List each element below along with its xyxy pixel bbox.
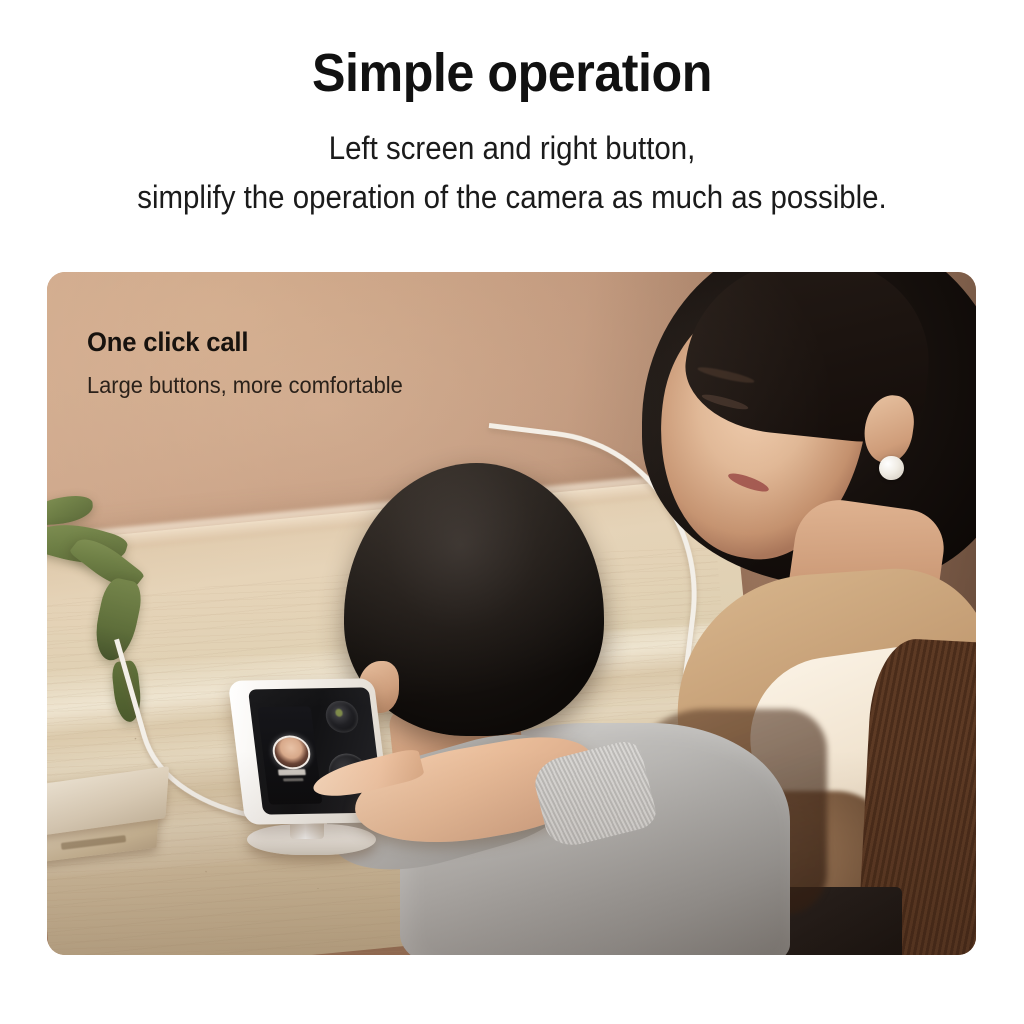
header: Simple operation Left screen and right b…	[0, 0, 1024, 222]
lifestyle-photo-card: One click call Large buttons, more comfo…	[47, 272, 976, 955]
camera-lens-icon	[325, 701, 360, 734]
page-subtitle: Left screen and right button, simplify t…	[41, 102, 983, 221]
contact-name-label	[278, 769, 306, 775]
overlay-subtitle: Large buttons, more comfortable	[87, 358, 546, 399]
pearl-earring-icon	[879, 456, 903, 480]
overlay-title: One click call	[87, 327, 546, 358]
photo-overlay-caption: One click call Large buttons, more comfo…	[87, 327, 570, 399]
contact-avatar	[271, 736, 313, 770]
subtitle-line-2: simplify the operation of the camera as …	[41, 173, 983, 222]
page-title: Simple operation	[36, 0, 988, 102]
subtitle-line-1: Left screen and right button,	[41, 124, 983, 173]
contact-status-label	[283, 778, 304, 782]
